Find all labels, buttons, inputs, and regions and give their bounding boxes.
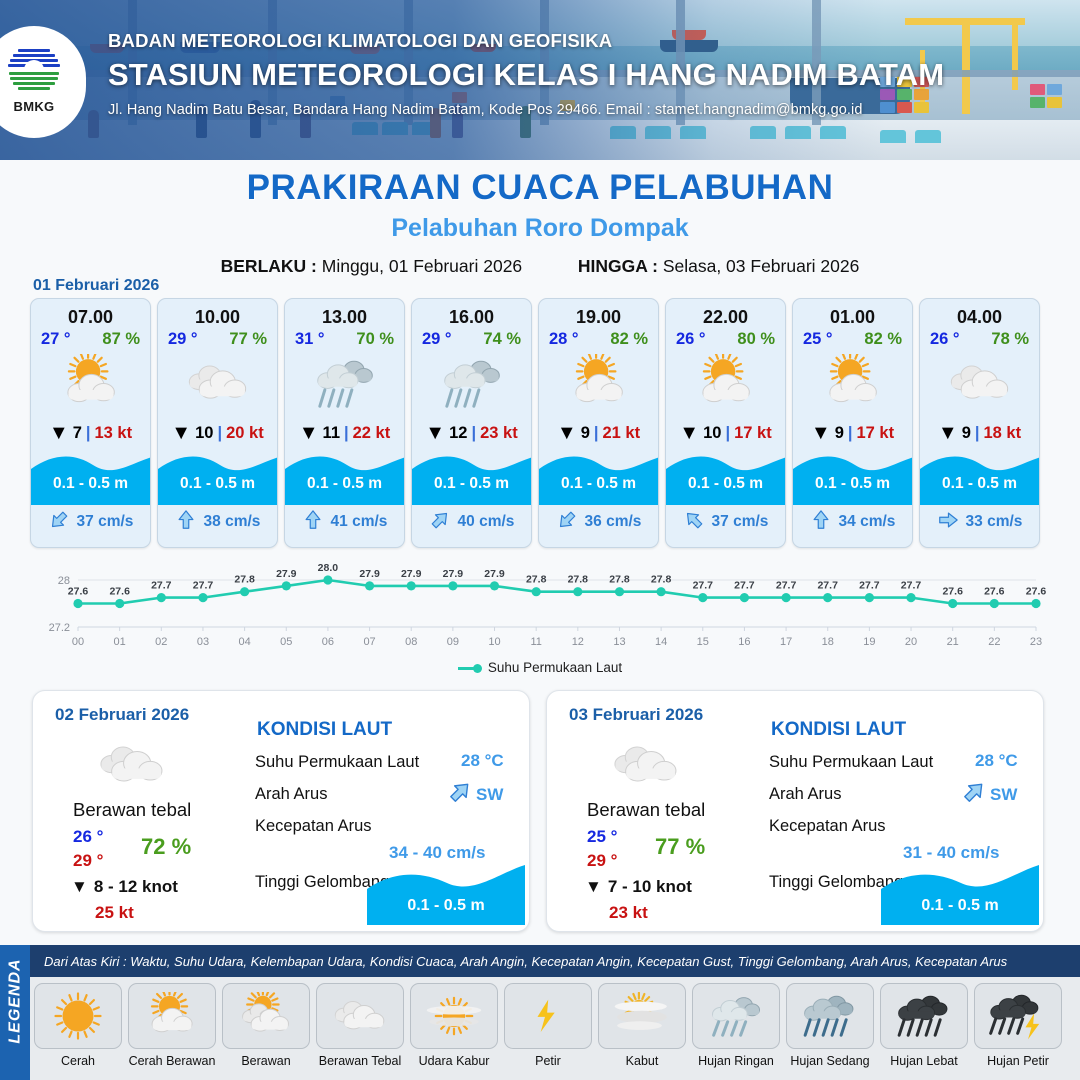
card-humidity: 77 % bbox=[229, 330, 267, 349]
svg-text:27.6: 27.6 bbox=[942, 586, 963, 598]
forecast-card: 16.00 29 ° 74 % ▼ 12 | 23 kt bbox=[411, 298, 532, 548]
hingga-label: HINGGA : bbox=[578, 256, 658, 276]
card-wind-row: ▼ 9 | 18 kt bbox=[920, 417, 1039, 449]
legend-item: Berawan bbox=[222, 983, 310, 1068]
svg-text:27.6: 27.6 bbox=[1026, 586, 1047, 598]
card-wave: 0.1 - 0.5 m bbox=[158, 449, 277, 505]
current-direction-icon bbox=[556, 509, 578, 536]
legend-item-label: Berawan bbox=[222, 1054, 310, 1068]
berlaku-value: Minggu, 01 Februari 2026 bbox=[322, 256, 522, 276]
svg-text:06: 06 bbox=[322, 636, 334, 648]
wave-height: 0.1 - 0.5 m bbox=[31, 475, 150, 493]
legend-item: Berawan Tebal bbox=[316, 983, 404, 1068]
svg-text:21: 21 bbox=[947, 636, 959, 648]
day-weather-icon bbox=[93, 737, 171, 798]
svg-text:22: 22 bbox=[988, 636, 1000, 648]
wind-gust: 17 kt bbox=[857, 424, 895, 443]
wind-direction-icon: ▼ bbox=[938, 423, 958, 443]
svg-text:03: 03 bbox=[197, 636, 209, 648]
wave-height: 0.1 - 0.5 m bbox=[920, 475, 1039, 493]
card-weather-icon bbox=[285, 351, 404, 415]
current-direction-icon bbox=[429, 509, 451, 536]
current-direction-label: Arah Arus bbox=[769, 785, 841, 804]
wind-direction-icon: ▼ bbox=[425, 423, 445, 443]
card-temperature: 31 ° bbox=[295, 330, 325, 349]
card-temperature: 28 ° bbox=[549, 330, 579, 349]
hingga-value: Selasa, 03 Februari 2026 bbox=[663, 256, 860, 276]
wave-height: 0.1 - 0.5 m bbox=[793, 475, 912, 493]
card-wave: 0.1 - 0.5 m bbox=[666, 449, 785, 505]
wind-direction-icon: ▼ bbox=[557, 423, 577, 443]
card-current-row: 36 cm/s bbox=[539, 505, 658, 539]
wind-speed: 10 bbox=[195, 424, 213, 443]
forecast-card: 07.00 27 ° 87 % ▼ 7 | 13 kt 0.1 - 0.5 m bbox=[30, 298, 151, 548]
svg-text:14: 14 bbox=[655, 636, 667, 648]
current-direction-icon bbox=[961, 779, 987, 810]
card-wave: 0.1 - 0.5 m bbox=[539, 449, 658, 505]
card-time: 04.00 bbox=[920, 299, 1039, 328]
wind-separator: | bbox=[471, 424, 476, 443]
wind-gust: 18 kt bbox=[984, 424, 1022, 443]
card-weather-icon bbox=[31, 351, 150, 415]
card-humidity: 82 % bbox=[610, 330, 648, 349]
wind-speed: 9 bbox=[962, 424, 971, 443]
wind-direction-icon: ▼ bbox=[49, 423, 69, 443]
legend-note: Dari Atas Kiri : Waktu, Suhu Udara, Kele… bbox=[30, 945, 1080, 977]
card-current-row: 40 cm/s bbox=[412, 505, 531, 539]
legend-item-icon bbox=[316, 983, 404, 1049]
current-direction-icon bbox=[937, 509, 959, 536]
svg-text:19: 19 bbox=[863, 636, 875, 648]
legend-item-label: Kabut bbox=[598, 1054, 686, 1068]
svg-text:27.7: 27.7 bbox=[193, 580, 214, 592]
svg-text:12: 12 bbox=[572, 636, 584, 648]
card-time: 19.00 bbox=[539, 299, 658, 328]
forecast-card: 04.00 26 ° 78 % ▼ 9 | 18 kt bbox=[919, 298, 1040, 548]
card-values: 29 ° 77 % bbox=[158, 328, 277, 349]
card-humidity: 74 % bbox=[483, 330, 521, 349]
svg-text:27.8: 27.8 bbox=[234, 574, 255, 586]
legend-item: Hujan Petir bbox=[974, 983, 1062, 1068]
day-wave-value: 0.1 - 0.5 m bbox=[881, 897, 1039, 915]
svg-text:23: 23 bbox=[1030, 636, 1042, 648]
current-speed: 41 cm/s bbox=[331, 513, 388, 531]
card-wind-row: ▼ 7 | 13 kt bbox=[31, 417, 150, 449]
card-wind-row: ▼ 10 | 17 kt bbox=[666, 417, 785, 449]
card-temperature: 26 ° bbox=[676, 330, 706, 349]
day-panel-02: 02 Februari 2026 Berawan tebal 26 ° 29 °… bbox=[32, 690, 530, 932]
legend-item-icon bbox=[128, 983, 216, 1049]
card-weather-icon bbox=[666, 351, 785, 415]
legend-item-label: Petir bbox=[504, 1054, 592, 1068]
legend-item-icon bbox=[504, 983, 592, 1049]
current-speed-label: Kecepatan Arus bbox=[255, 817, 372, 836]
svg-text:27.7: 27.7 bbox=[817, 580, 838, 592]
organization-name: BADAN METEOROLOGI KLIMATOLOGI DAN GEOFIS… bbox=[108, 30, 1038, 52]
svg-text:00: 00 bbox=[72, 636, 84, 648]
validity-row: BERLAKU : Minggu, 01 Februari 2026 HINGG… bbox=[0, 256, 1080, 277]
card-weather-icon bbox=[412, 351, 531, 415]
card-weather-icon bbox=[539, 351, 658, 415]
page-subtitle: Pelabuhan Roro Dompak bbox=[0, 214, 1080, 243]
card-wind-row: ▼ 10 | 20 kt bbox=[158, 417, 277, 449]
page-title: PRAKIRAAN CUACA PELABUHAN bbox=[0, 168, 1080, 208]
wind-gust: 13 kt bbox=[95, 424, 133, 443]
svg-text:11: 11 bbox=[530, 636, 541, 648]
card-time: 22.00 bbox=[666, 299, 785, 328]
wind-speed: 12 bbox=[449, 424, 467, 443]
current-speed: 34 cm/s bbox=[839, 513, 896, 531]
current-speed: 37 cm/s bbox=[712, 513, 769, 531]
day-temp-max: 29 ° bbox=[73, 851, 103, 871]
card-current-row: 34 cm/s bbox=[793, 505, 912, 539]
legend-item: Cerah Berawan bbox=[128, 983, 216, 1068]
wind-separator: | bbox=[848, 424, 853, 443]
card-wind-row: ▼ 9 | 17 kt bbox=[793, 417, 912, 449]
current-direction-row: SW bbox=[447, 779, 503, 810]
wind-separator: | bbox=[86, 424, 91, 443]
wind-gust: 17 kt bbox=[734, 424, 772, 443]
legend-item-icon bbox=[786, 983, 874, 1049]
wind-direction-icon: ▼ bbox=[299, 423, 319, 443]
wave-height: 0.1 - 0.5 m bbox=[666, 475, 785, 493]
svg-text:27.8: 27.8 bbox=[526, 574, 547, 586]
legend-item-icon bbox=[410, 983, 498, 1049]
wind-direction-icon: ▼ bbox=[679, 423, 699, 443]
day-temp-min: 26 ° bbox=[73, 827, 103, 847]
bmkg-logo-text: BMKG bbox=[1, 99, 67, 114]
current-direction-row: SW bbox=[961, 779, 1017, 810]
current-direction-value: SW bbox=[990, 785, 1017, 805]
card-humidity: 80 % bbox=[737, 330, 775, 349]
wind-speed: 11 bbox=[323, 424, 340, 443]
wind-speed: 9 bbox=[835, 424, 844, 443]
svg-text:28.0: 28.0 bbox=[318, 562, 339, 574]
legend-item-icon bbox=[34, 983, 122, 1049]
wave-height: 0.1 - 0.5 m bbox=[412, 475, 531, 493]
card-wind-row: ▼ 9 | 21 kt bbox=[539, 417, 658, 449]
legend-tab-label: LEGENDA bbox=[7, 934, 25, 1069]
svg-text:04: 04 bbox=[238, 636, 250, 648]
legend-item-icon bbox=[692, 983, 780, 1049]
forecast-card-row: 07.00 27 ° 87 % ▼ 7 | 13 kt 0.1 - 0.5 m bbox=[30, 298, 1050, 548]
card-time: 01.00 bbox=[793, 299, 912, 328]
legend-item-icon bbox=[880, 983, 968, 1049]
card-humidity: 87 % bbox=[102, 330, 140, 349]
legend-item-label: Berawan Tebal bbox=[316, 1054, 404, 1068]
card-current-row: 38 cm/s bbox=[158, 505, 277, 539]
day-wind-range: 7 - 10 knot bbox=[608, 877, 692, 897]
card-humidity: 78 % bbox=[991, 330, 1029, 349]
card-temperature: 26 ° bbox=[930, 330, 960, 349]
card-values: 26 ° 78 % bbox=[920, 328, 1039, 349]
wind-direction-icon: ▼ bbox=[71, 877, 88, 897]
card-weather-icon bbox=[793, 351, 912, 415]
card-weather-icon bbox=[920, 351, 1039, 415]
wind-direction-icon: ▼ bbox=[811, 423, 831, 443]
svg-text:09: 09 bbox=[447, 636, 459, 648]
forecast-card: 10.00 29 ° 77 % ▼ 10 | 20 kt bbox=[157, 298, 278, 548]
card-values: 31 ° 70 % bbox=[285, 328, 404, 349]
day-date: 03 Februari 2026 bbox=[569, 705, 703, 725]
current-direction-label: Arah Arus bbox=[255, 785, 327, 804]
svg-text:27.9: 27.9 bbox=[484, 568, 505, 580]
station-name: STASIUN METEOROLOGI KELAS I HANG NADIM B… bbox=[108, 57, 1038, 93]
wave-height: 0.1 - 0.5 m bbox=[539, 475, 658, 493]
current-speed: 37 cm/s bbox=[77, 513, 134, 531]
day-gust: 25 kt bbox=[95, 903, 134, 923]
svg-text:08: 08 bbox=[405, 636, 417, 648]
sst-value: 28 °C bbox=[461, 751, 504, 771]
wind-gust: 22 kt bbox=[353, 424, 391, 443]
card-current-row: 37 cm/s bbox=[31, 505, 150, 539]
card-time: 13.00 bbox=[285, 299, 404, 328]
legend-item-label: Hujan Ringan bbox=[692, 1054, 780, 1068]
sea-condition-title: KONDISI LAUT bbox=[257, 719, 392, 741]
legend-item-label: Hujan Sedang bbox=[786, 1054, 874, 1068]
card-weather-icon bbox=[158, 351, 277, 415]
day-wind-row: ▼ 8 - 12 knot bbox=[71, 877, 178, 897]
svg-text:17: 17 bbox=[780, 636, 792, 648]
card-temperature: 27 ° bbox=[41, 330, 71, 349]
berlaku-label: BERLAKU : bbox=[221, 256, 317, 276]
current-speed: 33 cm/s bbox=[966, 513, 1023, 531]
day-condition: Berawan tebal bbox=[73, 799, 191, 821]
day-wind-range: 8 - 12 knot bbox=[94, 877, 178, 897]
wind-direction-icon: ▼ bbox=[585, 877, 602, 897]
station-address: Jl. Hang Nadim Batu Besar, Bandara Hang … bbox=[108, 102, 1038, 118]
legend-item: Kabut bbox=[598, 983, 686, 1068]
title-block: PRAKIRAAN CUACA PELABUHAN Pelabuhan Roro… bbox=[0, 168, 1080, 277]
chart-legend: Suhu Permukaan Laut bbox=[0, 660, 1080, 675]
svg-text:27.9: 27.9 bbox=[276, 568, 297, 580]
card-values: 26 ° 80 % bbox=[666, 328, 785, 349]
day-wind-row: ▼ 7 - 10 knot bbox=[585, 877, 692, 897]
legend-item: Hujan Sedang bbox=[786, 983, 874, 1068]
day-humidity: 77 % bbox=[655, 834, 705, 860]
forecast-card: 22.00 26 ° 80 % ▼ 10 | 17 kt 0.1 - 0.5 m bbox=[665, 298, 786, 548]
current-direction-value: SW bbox=[476, 785, 503, 805]
current-speed: 40 cm/s bbox=[458, 513, 515, 531]
day-weather-icon bbox=[607, 737, 685, 798]
current-direction-icon bbox=[302, 509, 324, 536]
forecast-date-label: 01 Februari 2026 bbox=[33, 277, 159, 295]
legend-item: Udara Kabur bbox=[410, 983, 498, 1068]
forecast-card: 01.00 25 ° 82 % ▼ 9 | 17 kt 0.1 - 0.5 m bbox=[792, 298, 913, 548]
legend-section: LEGENDA Dari Atas Kiri : Waktu, Suhu Uda… bbox=[0, 945, 1080, 1080]
wave-height: 0.1 - 0.5 m bbox=[285, 475, 404, 493]
wind-speed: 7 bbox=[73, 424, 82, 443]
chart-legend-line bbox=[458, 667, 476, 670]
card-current-row: 41 cm/s bbox=[285, 505, 404, 539]
wind-speed: 10 bbox=[703, 424, 721, 443]
sea-condition-title: KONDISI LAUT bbox=[771, 719, 906, 741]
svg-text:27.7: 27.7 bbox=[859, 580, 880, 592]
card-values: 27 ° 87 % bbox=[31, 328, 150, 349]
wind-speed: 9 bbox=[581, 424, 590, 443]
wind-separator: | bbox=[344, 424, 349, 443]
current-direction-icon bbox=[447, 779, 473, 810]
legend-item-row: Cerah Cerah Berawan Berawan Berawan Teba… bbox=[34, 983, 1078, 1068]
svg-text:27.7: 27.7 bbox=[734, 580, 755, 592]
svg-text:27.8: 27.8 bbox=[568, 574, 589, 586]
card-wave: 0.1 - 0.5 m bbox=[793, 449, 912, 505]
day-condition: Berawan tebal bbox=[587, 799, 705, 821]
svg-text:27.8: 27.8 bbox=[609, 574, 630, 586]
card-wave: 0.1 - 0.5 m bbox=[285, 449, 404, 505]
legend-tab: LEGENDA bbox=[0, 945, 30, 1080]
svg-text:02: 02 bbox=[155, 636, 167, 648]
sst-value: 28 °C bbox=[975, 751, 1018, 771]
sst-label: Suhu Permukaan Laut bbox=[255, 753, 419, 772]
svg-text:15: 15 bbox=[697, 636, 709, 648]
card-temperature: 29 ° bbox=[422, 330, 452, 349]
svg-text:13: 13 bbox=[613, 636, 625, 648]
day-temp-max: 29 ° bbox=[587, 851, 617, 871]
card-humidity: 82 % bbox=[864, 330, 902, 349]
card-values: 25 ° 82 % bbox=[793, 328, 912, 349]
wind-separator: | bbox=[594, 424, 599, 443]
current-speed: 36 cm/s bbox=[585, 513, 642, 531]
bmkg-logo-circle bbox=[6, 42, 62, 98]
svg-text:27.6: 27.6 bbox=[109, 586, 130, 598]
svg-text:01: 01 bbox=[114, 636, 126, 648]
svg-text:27.8: 27.8 bbox=[651, 574, 672, 586]
svg-text:20: 20 bbox=[905, 636, 917, 648]
current-speed: 38 cm/s bbox=[204, 513, 261, 531]
card-current-row: 33 cm/s bbox=[920, 505, 1039, 539]
card-humidity: 70 % bbox=[356, 330, 394, 349]
wind-separator: | bbox=[217, 424, 222, 443]
svg-text:27.6: 27.6 bbox=[984, 586, 1005, 598]
legend-item: Hujan Ringan bbox=[692, 983, 780, 1068]
wave-height: 0.1 - 0.5 m bbox=[158, 475, 277, 493]
svg-text:27.7: 27.7 bbox=[151, 580, 172, 592]
svg-text:10: 10 bbox=[488, 636, 500, 648]
svg-text:27.2: 27.2 bbox=[49, 622, 70, 634]
page-header: BMKG BADAN METEOROLOGI KLIMATOLOGI DAN G… bbox=[0, 0, 1080, 160]
legend-item-label: Udara Kabur bbox=[410, 1054, 498, 1068]
chart-legend-label: Suhu Permukaan Laut bbox=[488, 660, 622, 675]
forecast-card: 13.00 31 ° 70 % ▼ 11 | 22 kt bbox=[284, 298, 405, 548]
day-wave-value: 0.1 - 0.5 m bbox=[367, 897, 525, 915]
day-humidity: 72 % bbox=[141, 834, 191, 860]
svg-text:16: 16 bbox=[738, 636, 750, 648]
legend-item: Hujan Lebat bbox=[880, 983, 968, 1068]
card-wave: 0.1 - 0.5 m bbox=[31, 449, 150, 505]
svg-text:05: 05 bbox=[280, 636, 292, 648]
current-speed-label: Kecepatan Arus bbox=[769, 817, 886, 836]
wind-separator: | bbox=[975, 424, 980, 443]
current-direction-icon bbox=[810, 509, 832, 536]
card-wind-row: ▼ 11 | 22 kt bbox=[285, 417, 404, 449]
forecast-card: 19.00 28 ° 82 % ▼ 9 | 21 kt 0.1 - 0.5 m bbox=[538, 298, 659, 548]
current-direction-icon bbox=[175, 509, 197, 536]
legend-item-label: Cerah Berawan bbox=[128, 1054, 216, 1068]
svg-text:07: 07 bbox=[363, 636, 375, 648]
sst-label: Suhu Permukaan Laut bbox=[769, 753, 933, 772]
legend-item-label: Cerah bbox=[34, 1054, 122, 1068]
day-panel-03: 03 Februari 2026 Berawan tebal 25 ° 29 °… bbox=[546, 690, 1044, 932]
card-time: 07.00 bbox=[31, 299, 150, 328]
card-time: 10.00 bbox=[158, 299, 277, 328]
card-temperature: 25 ° bbox=[803, 330, 833, 349]
day-temp-min: 25 ° bbox=[587, 827, 617, 847]
wind-gust: 21 kt bbox=[603, 424, 641, 443]
day-date: 02 Februari 2026 bbox=[55, 705, 189, 725]
legend-item-icon bbox=[222, 983, 310, 1049]
svg-text:27.6: 27.6 bbox=[68, 586, 89, 598]
card-values: 29 ° 74 % bbox=[412, 328, 531, 349]
wind-gust: 23 kt bbox=[480, 424, 518, 443]
svg-text:27.9: 27.9 bbox=[359, 568, 380, 580]
wind-direction-icon: ▼ bbox=[171, 423, 191, 443]
legend-item-icon bbox=[974, 983, 1062, 1049]
wind-separator: | bbox=[725, 424, 730, 443]
legend-item-label: Hujan Petir bbox=[974, 1054, 1062, 1068]
svg-text:18: 18 bbox=[822, 636, 834, 648]
legend-item: Petir bbox=[504, 983, 592, 1068]
wind-gust: 20 kt bbox=[226, 424, 264, 443]
card-current-row: 37 cm/s bbox=[666, 505, 785, 539]
sst-chart: 2827.20001020304050607080910111213141516… bbox=[30, 558, 1050, 653]
card-wave: 0.1 - 0.5 m bbox=[412, 449, 531, 505]
current-direction-icon bbox=[683, 509, 705, 536]
card-temperature: 29 ° bbox=[168, 330, 198, 349]
card-wind-row: ▼ 12 | 23 kt bbox=[412, 417, 531, 449]
legend-item: Cerah bbox=[34, 983, 122, 1068]
legend-item-label: Hujan Lebat bbox=[880, 1054, 968, 1068]
svg-text:27.9: 27.9 bbox=[401, 568, 422, 580]
svg-text:27.9: 27.9 bbox=[443, 568, 464, 580]
card-values: 28 ° 82 % bbox=[539, 328, 658, 349]
svg-text:27.7: 27.7 bbox=[776, 580, 797, 592]
legend-item-icon bbox=[598, 983, 686, 1049]
current-speed-value: 31 - 40 cm/s bbox=[903, 843, 999, 863]
card-wave: 0.1 - 0.5 m bbox=[920, 449, 1039, 505]
current-speed-value: 34 - 40 cm/s bbox=[389, 843, 485, 863]
current-direction-icon bbox=[48, 509, 70, 536]
svg-text:27.7: 27.7 bbox=[693, 580, 714, 592]
card-time: 16.00 bbox=[412, 299, 531, 328]
day-gust: 23 kt bbox=[609, 903, 648, 923]
svg-text:27.7: 27.7 bbox=[901, 580, 922, 592]
